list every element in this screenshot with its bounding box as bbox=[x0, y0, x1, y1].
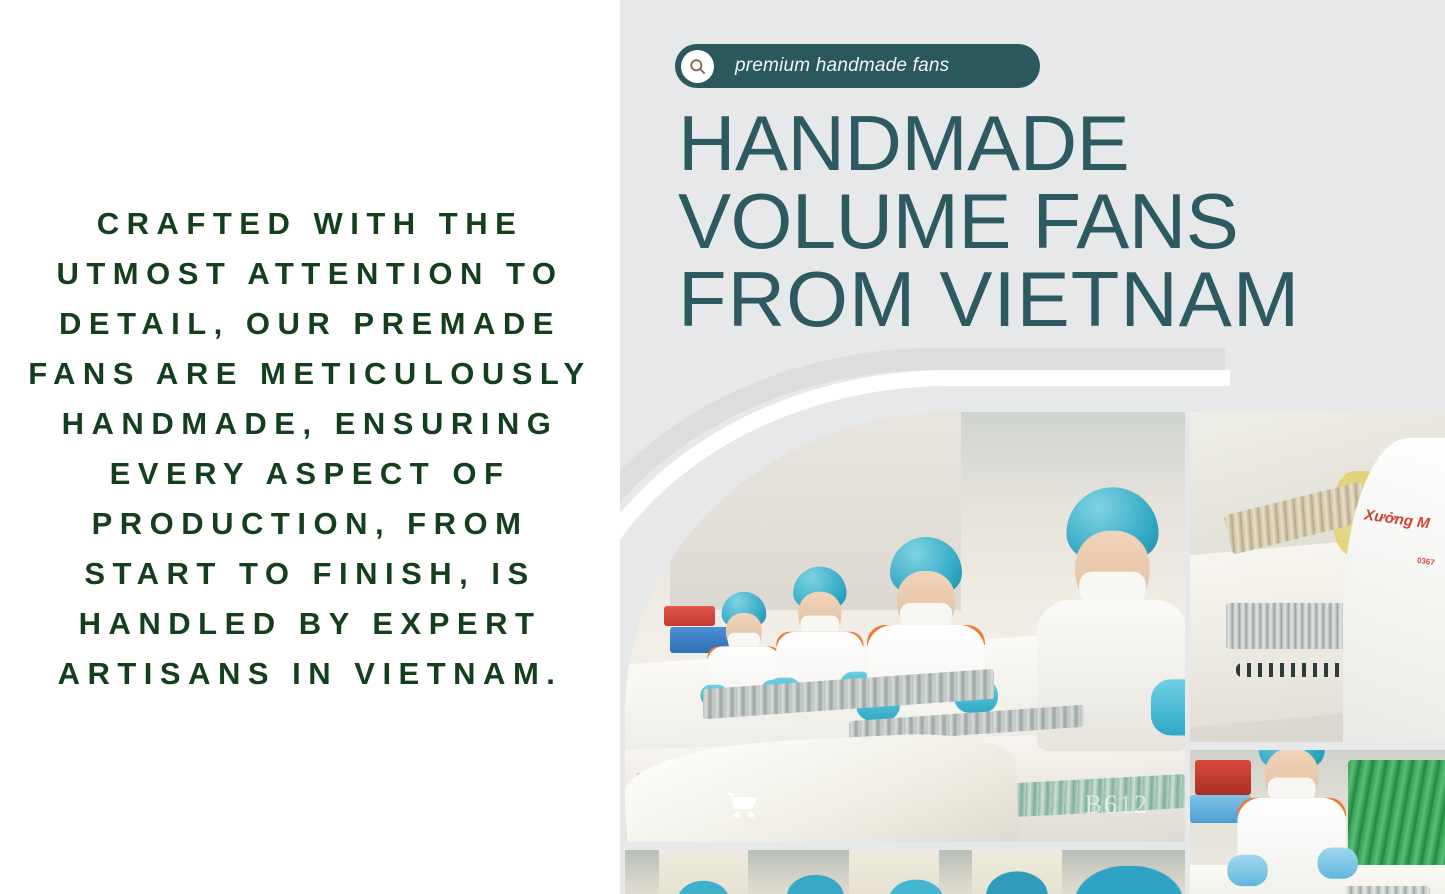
headline-line-3: FROM VIETNAM bbox=[678, 260, 1445, 338]
right-visual-panel: premium handmade fans HANDMADE VOLUME FA… bbox=[620, 0, 1445, 894]
photo-row-of-workers bbox=[625, 850, 1185, 894]
photo-tools-closeup: Xưởng M 0367 bbox=[1190, 412, 1445, 742]
photo-collage: B612 bbox=[620, 330, 1445, 894]
headline-line-2: VOLUME FANS bbox=[678, 182, 1445, 260]
marketing-body-copy: Crafted with the utmost attention to det… bbox=[10, 199, 610, 699]
search-icon[interactable] bbox=[681, 50, 714, 83]
search-input[interactable]: premium handmade fans bbox=[735, 55, 949, 77]
left-text-panel: Crafted with the utmost attention to det… bbox=[0, 0, 620, 894]
poster-root: Crafted with the utmost attention to det… bbox=[0, 0, 1445, 894]
page-title: HANDMADE VOLUME FANS FROM VIETNAM bbox=[678, 104, 1445, 338]
photo-main-workers: B612 bbox=[625, 412, 1185, 842]
search-bar[interactable]: premium handmade fans bbox=[675, 44, 1040, 88]
shopping-cart-icon[interactable] bbox=[725, 790, 759, 820]
photo-packing bbox=[1190, 750, 1445, 894]
headline-line-1: HANDMADE bbox=[678, 104, 1445, 182]
